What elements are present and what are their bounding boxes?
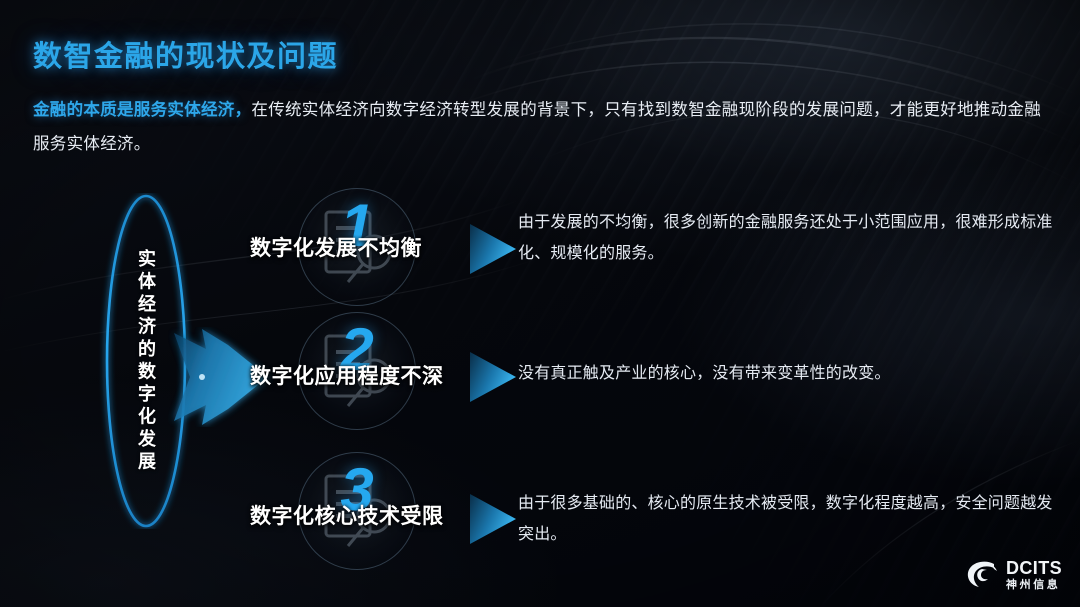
problem-row-3: 3 数字化核心技术受限 由于很多基础的、核心的原生技术被受限，数字化程度越高，安…: [250, 452, 1080, 572]
chevron-right-icon-3: [462, 488, 524, 550]
presentation-slide: 数智金融的现状及问题 金融的本质是服务实体经济，在传统实体经济向数字经济转型发展…: [0, 0, 1080, 607]
logo-name-en: DCITS: [1006, 559, 1062, 577]
problem-description-2: 没有真正触及产业的核心，没有带来变革性的改变。: [518, 358, 1064, 389]
problem-label-3: 数字化核心技术受限: [250, 500, 462, 530]
chevron-right-icon-1: [462, 218, 524, 280]
problem-label-2: 数字化应用程度不深: [250, 360, 462, 390]
page-title: 数智金融的现状及问题: [33, 33, 338, 75]
problem-description-1: 由于发展的不均衡，很多创新的金融服务还处于小范围应用，很难形成标准化、规模化的服…: [518, 207, 1064, 269]
problem-row-2: 2 数字化应用程度不深 没有真正触及产业的核心，没有带来变革性的改变。: [250, 312, 1080, 432]
logo-text-wrap: DCITS 神州信息: [1006, 559, 1062, 591]
intro-paragraph: 金融的本质是服务实体经济，在传统实体经济向数字经济转型发展的背景下，只有找到数智…: [33, 93, 1051, 161]
problem-label-1: 数字化发展不均衡: [250, 232, 462, 262]
problem-row-1: 1 数字化发展不均衡 由于发展的不均衡，很多创新的金融服务还处于小范围应用，很难…: [250, 188, 1080, 308]
dcits-swoosh-icon: [965, 560, 998, 590]
logo-name-cn: 神州信息: [1006, 580, 1062, 591]
vertical-label-text: 实体经济的数字化发展: [137, 249, 155, 474]
intro-highlight: 金融的本质是服务实体经济，: [33, 101, 251, 119]
company-logo: DCITS 神州信息: [965, 559, 1062, 591]
problem-description-3: 由于很多基础的、核心的原生技术被受限，数字化程度越高，安全问题越发突出。: [518, 488, 1064, 550]
chevron-right-icon-2: [462, 346, 524, 408]
